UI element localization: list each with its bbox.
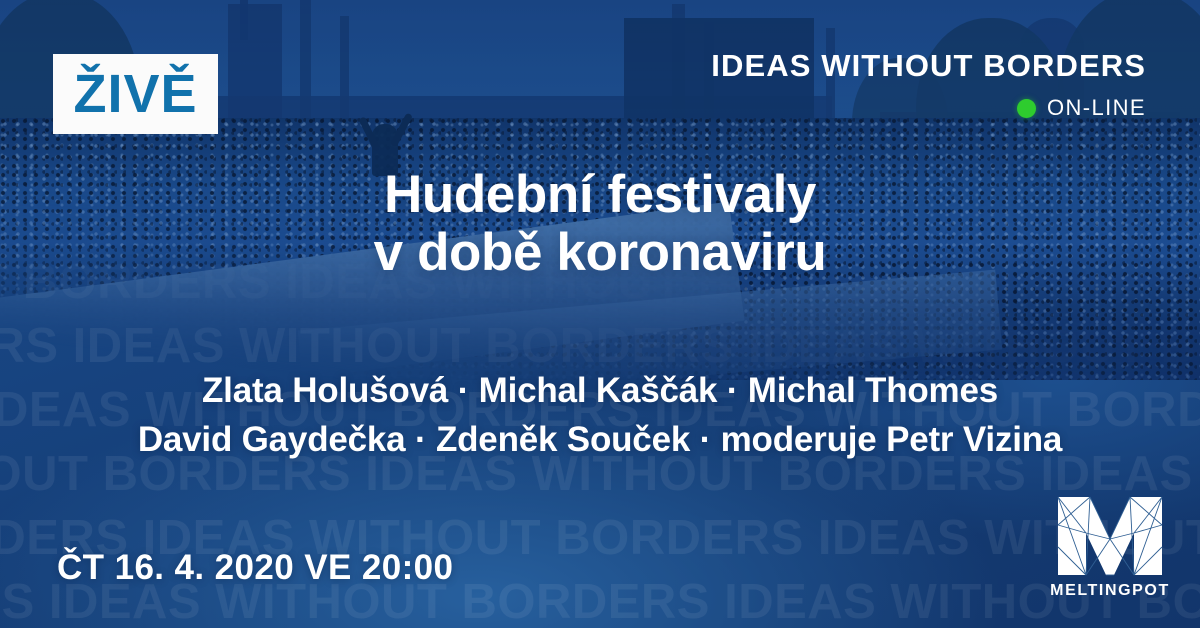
page-title: Hudební festivaly v době koronaviru (0, 166, 1200, 283)
online-status-label: ON-LINE (1047, 95, 1146, 121)
brand-block: IDEAS WITHOUT BORDERS ON-LINE (711, 50, 1146, 121)
live-badge: ŽIVĚ (53, 54, 218, 134)
speakers-line-2: David Gaydečka · Zdeněk Souček · moderuj… (0, 415, 1200, 464)
headline-line-2: v době koronaviru (0, 224, 1200, 282)
live-badge-label: ŽIVĚ (73, 67, 197, 121)
status-dot-icon (1017, 99, 1036, 118)
speakers-list: Zlata Holušová · Michal Kaščák · Michal … (0, 366, 1200, 464)
event-poster: IDEAS WITHOUT BORDERS IDEAS WITHOUT BORD… (0, 0, 1200, 628)
headline-line-1: Hudební festivaly (0, 166, 1200, 224)
meltingpot-logo: MELTINGPOT (1044, 495, 1176, 600)
brand-title: IDEAS WITHOUT BORDERS (711, 50, 1146, 81)
event-datetime: ČT 16. 4. 2020 VE 20:00 (57, 548, 453, 588)
speakers-line-1: Zlata Holušová · Michal Kaščák · Michal … (0, 366, 1200, 415)
meltingpot-m-icon (1056, 495, 1164, 577)
online-status: ON-LINE (711, 95, 1146, 121)
meltingpot-wordmark: MELTINGPOT (1050, 582, 1170, 600)
